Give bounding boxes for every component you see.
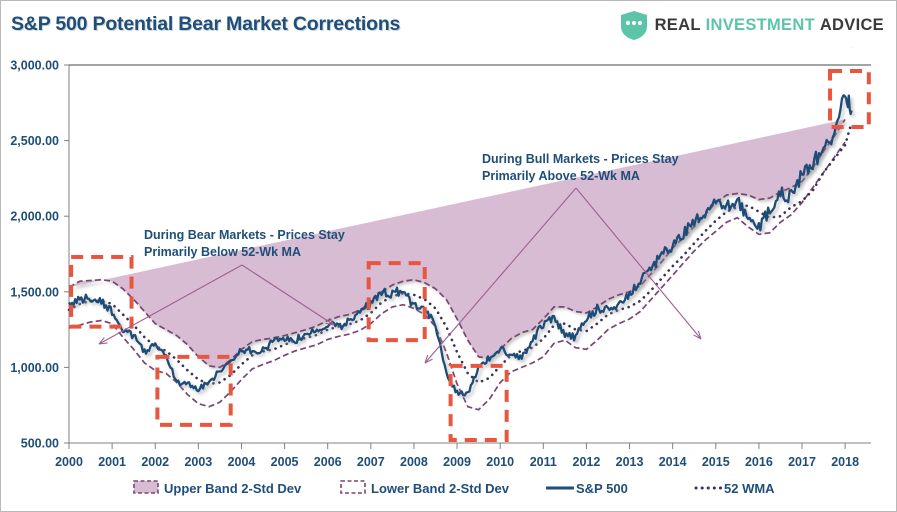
y-tick-label: 500.00 — [21, 437, 59, 451]
chart-legend: Upper Band 2-Std DevLower Band 2-Std Dev… — [134, 481, 775, 496]
x-tick-label: 2012 — [573, 455, 601, 469]
legend-swatch — [134, 481, 158, 493]
x-tick-label: 2008 — [400, 455, 428, 469]
x-tick-label: 2002 — [141, 455, 169, 469]
brand-logo: REAL INVESTMENT ADVICE — [621, 11, 884, 40]
box-2009-2010 — [451, 366, 507, 440]
x-tick-label: 2015 — [702, 455, 730, 469]
page-title: S&P 500 Potential Bear Market Correction… — [11, 13, 400, 36]
x-tick-label: 2003 — [184, 455, 212, 469]
legend-item[interactable]: 52 WMA — [696, 481, 775, 496]
x-tick-label: 2000 — [55, 455, 83, 469]
band-fill — [69, 119, 845, 367]
legend-item[interactable]: S&P 500 — [546, 481, 628, 496]
x-tick-label: 2017 — [788, 455, 816, 469]
brand-wordmark: REAL INVESTMENT ADVICE — [655, 16, 884, 35]
brand-word-advice: ADVICE — [820, 16, 884, 34]
x-tick-label: 2011 — [530, 455, 557, 469]
annotation-bear-line2: Primarily Below 52-Wk MA — [144, 245, 301, 259]
x-tick-label: 2018 — [831, 455, 859, 469]
x-axis: 2000200120022003200420052006200720082009… — [55, 443, 871, 469]
x-tick-label: 2014 — [659, 455, 687, 469]
chart-header: S&P 500 Potential Bear Market Correction… — [1, 1, 896, 47]
x-tick-label: 2005 — [271, 455, 299, 469]
y-tick-label: 1,000.00 — [10, 361, 59, 375]
brand-word-investment: INVESTMENT — [706, 16, 815, 34]
annotation-bear-line1: During Bear Markets - Prices Stay — [144, 228, 345, 242]
legend-item[interactable]: Upper Band 2-Std Dev — [134, 481, 302, 496]
y-tick-label: 1,500.00 — [10, 285, 59, 299]
x-tick-label: 2007 — [357, 455, 385, 469]
box-2000-2001 — [71, 257, 131, 327]
legend-label: 52 WMA — [724, 481, 775, 496]
legend-swatch — [341, 481, 365, 493]
legend-label: Upper Band 2-Std Dev — [164, 481, 302, 496]
x-tick-label: 2010 — [486, 455, 514, 469]
y-tick-label: 3,000.00 — [10, 59, 59, 73]
annotation-bull-line1: During Bull Markets - Prices Stay — [482, 152, 679, 166]
x-tick-label: 2006 — [314, 455, 342, 469]
shield-icon — [621, 11, 647, 40]
x-tick-label: 2001 — [98, 455, 126, 469]
y-tick-label: 2,500.00 — [10, 134, 59, 148]
chart-frame: S&P 500 Potential Bear Market Correction… — [0, 0, 897, 512]
x-tick-label: 2004 — [228, 455, 256, 469]
sp500-chart: 3,000.002,500.002,000.001,500.001,000.00… — [1, 47, 896, 511]
annotation-arrowhead — [99, 337, 107, 344]
x-tick-label: 2009 — [443, 455, 471, 469]
x-tick-label: 2016 — [745, 455, 773, 469]
legend-item[interactable]: Lower Band 2-Std Dev — [341, 481, 510, 496]
x-tick-label: 2013 — [616, 455, 644, 469]
brand-word-real: REAL — [655, 16, 701, 34]
legend-label: Lower Band 2-Std Dev — [371, 481, 510, 496]
annotation-bull-line2: Primarily Above 52-Wk MA — [482, 169, 640, 183]
y-tick-label: 2,000.00 — [10, 210, 59, 224]
chart-plot-area: 3,000.002,500.002,000.001,500.001,000.00… — [1, 47, 896, 511]
legend-label: S&P 500 — [576, 481, 628, 496]
